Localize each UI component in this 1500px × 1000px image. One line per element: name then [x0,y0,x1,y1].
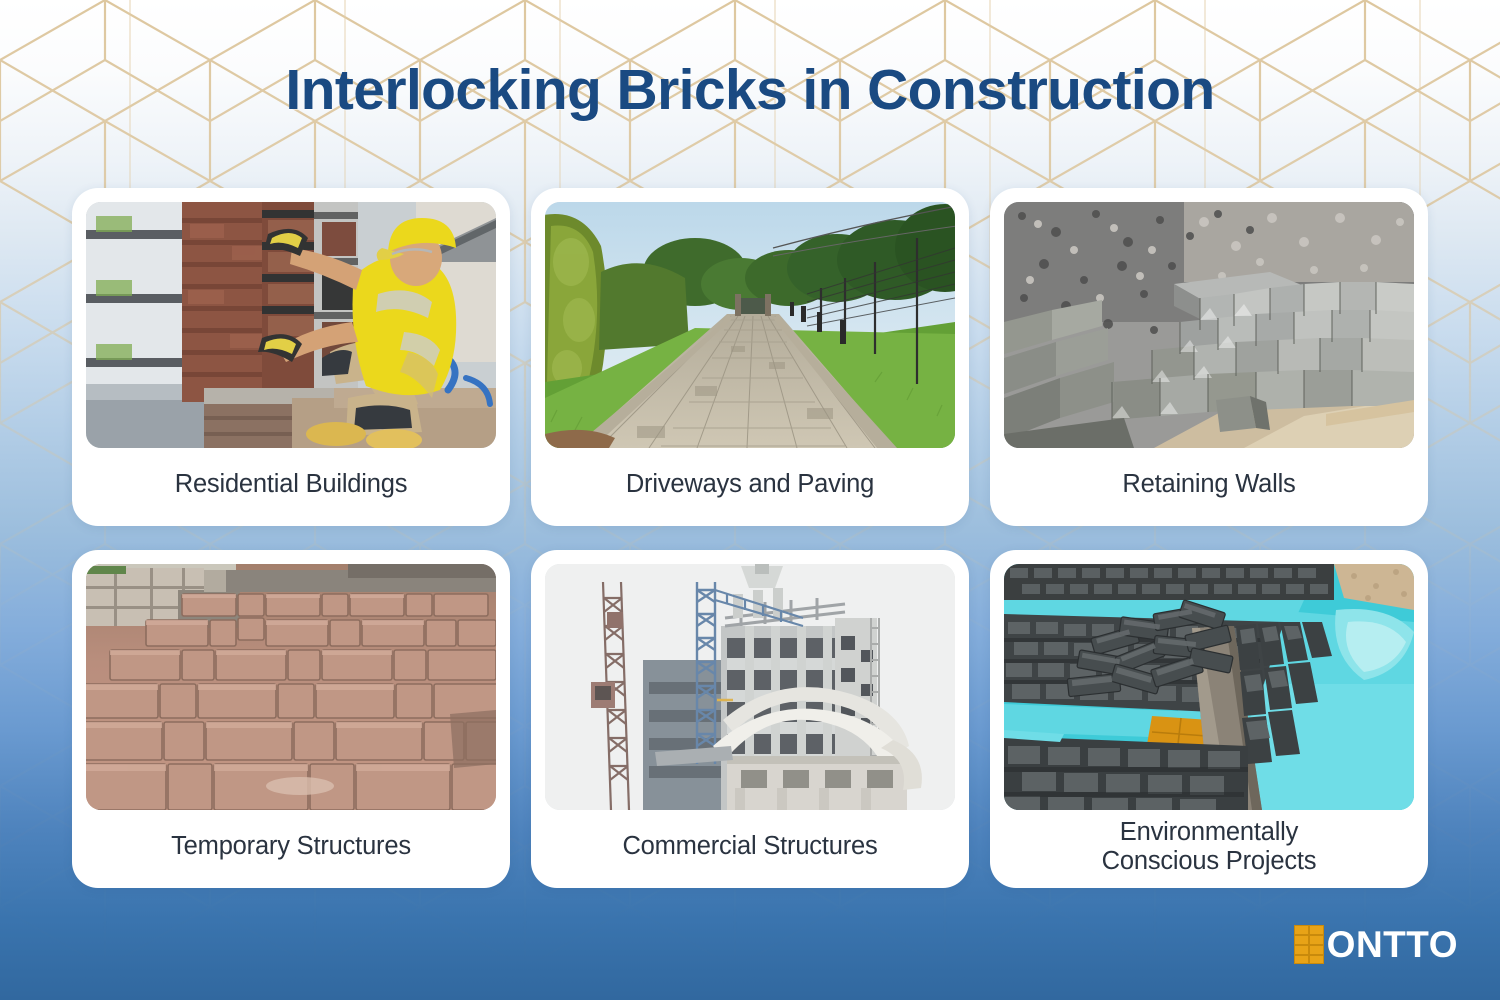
infographic-page: Interlocking Bricks in Construction [0,0,1500,1000]
card-caption: Residential Buildings [165,448,418,526]
environmentally-conscious-projects-photo [1004,564,1414,810]
applications-card-grid: Residential Buildings [72,188,1428,888]
driveways-and-paving-photo [545,202,955,448]
card-caption: Environmentally Conscious Projects [1092,810,1327,888]
card-caption: Retaining Walls [1112,448,1305,526]
card-caption: Driveways and Paving [616,448,884,526]
temporary-structures-photo [86,564,496,810]
card-residential-buildings[interactable]: Residential Buildings [72,188,510,526]
lontto-logo: ONTTO [1294,925,1458,964]
card-caption: Temporary Structures [161,810,421,888]
card-retaining-walls[interactable]: Retaining Walls [990,188,1428,526]
commercial-structures-photo [545,564,955,810]
card-temporary-structures[interactable]: Temporary Structures [72,550,510,888]
card-caption: Commercial Structures [612,810,887,888]
page-title: Interlocking Bricks in Construction [0,57,1500,123]
retaining-walls-photo [1004,202,1414,448]
residential-buildings-photo [86,202,496,448]
card-environmentally-conscious-projects[interactable]: Environmentally Conscious Projects [990,550,1428,888]
card-driveways-and-paving[interactable]: Driveways and Paving [531,188,969,526]
logo-wordmark: ONTTO [1327,926,1458,963]
logo-brick-l-mark [1294,925,1324,964]
card-commercial-structures[interactable]: Commercial Structures [531,550,969,888]
